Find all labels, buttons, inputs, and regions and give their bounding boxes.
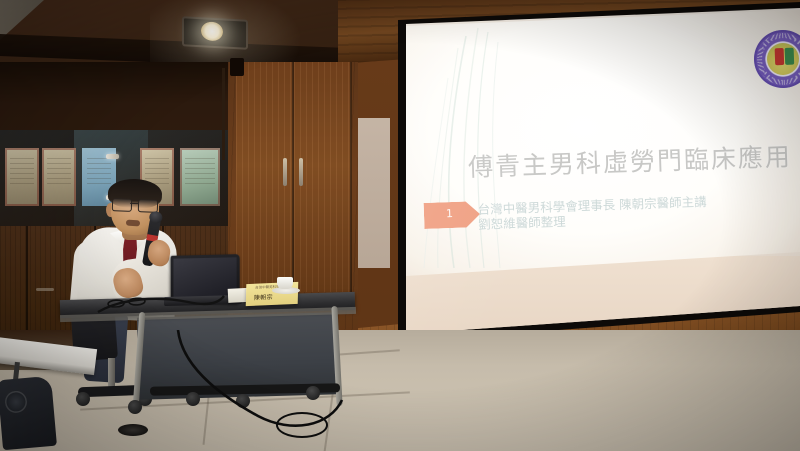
eyeglasses-icon: [112, 198, 158, 212]
award-plaque: [5, 148, 39, 206]
slide-content: 傅青主男科虛勞門臨床應用 台灣中醫男科學會理事長 陳朝宗醫師主講 劉恕維醫師整理…: [406, 6, 800, 276]
presenter-mouth: [126, 220, 140, 227]
eyeglass-lens-left: [112, 198, 132, 212]
award-plaque: [42, 148, 76, 206]
cabinet-pull-handle[interactable]: [36, 288, 54, 291]
floor-cable-coil: [276, 412, 328, 438]
award-plaque-seal: [180, 148, 220, 206]
chair-caster: [76, 392, 90, 406]
bag-logo-icon: [4, 390, 28, 414]
floor-cable: [130, 330, 370, 440]
wall-speaker-icon: [230, 58, 244, 76]
placard-name: 陳朝宗: [254, 292, 273, 302]
door-handle[interactable]: [283, 158, 287, 186]
door-handle[interactable]: [299, 158, 303, 186]
floor-power-box: [118, 424, 148, 436]
society-logo-icon: [753, 29, 800, 89]
logo-mark-red: [775, 48, 785, 65]
sliding-door-left[interactable]: [236, 62, 294, 292]
logo-mark-green: [785, 48, 795, 65]
eyeglass-bridge: [130, 203, 138, 205]
sliding-door-right[interactable]: [294, 62, 352, 292]
teacup: [277, 277, 293, 289]
ceiling-spotlight-icon: [182, 16, 248, 49]
desk-cable: [96, 292, 226, 318]
cabinet-handle[interactable]: [106, 154, 119, 159]
slide-page-number: 1: [446, 207, 453, 220]
equipment-bag: [0, 376, 57, 450]
lecture-room-screenshot: 傅青主男科虛勞門臨床應用 台灣中醫男科學會理事長 陳朝宗醫師主講 劉恕維醫師整理…: [0, 0, 800, 451]
projection-screen: 傅青主男科虛勞門臨床應用 台灣中醫男科學會理事長 陳朝宗醫師主講 劉恕維醫師整理…: [406, 6, 800, 334]
